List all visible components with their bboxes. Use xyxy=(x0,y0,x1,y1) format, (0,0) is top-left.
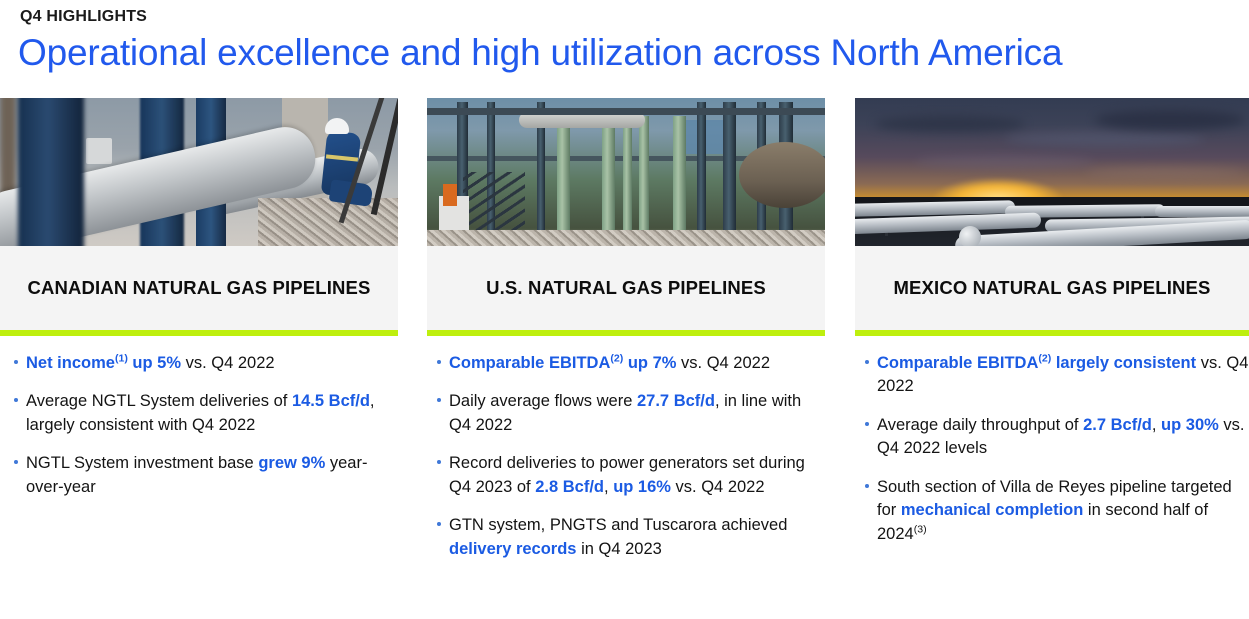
bullet-ngtl-deliveries: Average NGTL System deliveries of 14.5 B… xyxy=(0,390,398,437)
bullet-text-run: 27.7 Bcf/d xyxy=(637,392,715,410)
bullet-list-mexico: Comparable EBITDA(2) largely consistent … xyxy=(855,336,1249,546)
card-title-text: CANADIAN NATURAL GAS PIPELINES xyxy=(3,274,394,302)
card-title-mexico: MEXICO NATURAL GAS PIPELINES xyxy=(855,246,1249,330)
bullet-text-run: grew 9% xyxy=(258,454,325,472)
bullet-record-power-generator-deliveries: Record deliveries to power generators se… xyxy=(427,452,825,499)
bullet-text-run: 14.5 Bcf/d xyxy=(292,392,370,410)
card-mexico-natural-gas-pipelines: MEXICO NATURAL GAS PIPELINES Comparable … xyxy=(855,98,1249,561)
bullet-text-run: NGTL System investment base xyxy=(26,454,258,472)
bullet-average-daily-throughput: Average daily throughput of 2.7 Bcf/d, u… xyxy=(855,414,1249,461)
bullet-text-run: up 30% xyxy=(1161,416,1219,434)
us-gas-processing-plant-photo xyxy=(427,98,825,246)
bullet-text-run: , xyxy=(1152,416,1161,434)
footnote-marker: (3) xyxy=(914,523,927,535)
bullet-text-run: Average daily throughput of xyxy=(877,416,1083,434)
bullet-text-run: , xyxy=(604,478,613,496)
card-us-natural-gas-pipelines: U.S. NATURAL GAS PIPELINES Comparable EB… xyxy=(427,98,825,576)
footnote-marker: (2) xyxy=(1038,353,1051,365)
bullet-text-run: vs. Q4 2022 xyxy=(671,478,765,496)
footnote-marker: (2) xyxy=(610,353,623,365)
bullet-text-run: delivery records xyxy=(449,540,577,558)
bullet-text-run: up 5% xyxy=(128,354,181,372)
card-title-text: MEXICO NATURAL GAS PIPELINES xyxy=(869,274,1234,302)
bullet-comparable-ebitda-consistent: Comparable EBITDA(2) largely consistent … xyxy=(855,352,1249,399)
bullet-text-run: GTN system, PNGTS and Tuscarora achieved xyxy=(449,516,787,534)
bullet-text-run: vs. Q4 2022 xyxy=(676,354,770,372)
mexico-pipeline-sunset-photo xyxy=(855,98,1249,246)
canadian-pipeline-facility-photo xyxy=(0,98,398,246)
card-title-us: U.S. NATURAL GAS PIPELINES xyxy=(427,246,825,330)
bullet-text-run: Daily average flows were xyxy=(449,392,637,410)
bullet-text-run: vs. Q4 2022 xyxy=(181,354,275,372)
bullet-comparable-ebitda-up-7: Comparable EBITDA(2) up 7% vs. Q4 2022 xyxy=(427,352,825,375)
bullet-list-us: Comparable EBITDA(2) up 7% vs. Q4 2022Da… xyxy=(427,336,825,561)
slide-root: Q4 HIGHLIGHTS Operational excellence and… xyxy=(0,0,1249,619)
footnote-marker: (1) xyxy=(115,353,128,365)
bullet-text-run: Comparable EBITDA xyxy=(449,354,610,372)
bullet-text-run: up 7% xyxy=(623,354,676,372)
bullet-gtn-pngts-tuscarora-records: GTN system, PNGTS and Tuscarora achieved… xyxy=(427,514,825,561)
bullet-daily-average-flows: Daily average flows were 27.7 Bcf/d, in … xyxy=(427,390,825,437)
eyebrow-label: Q4 HIGHLIGHTS xyxy=(20,8,147,26)
bullet-text-run: 2.8 Bcf/d xyxy=(535,478,604,496)
bullet-text-run: Average NGTL System deliveries of xyxy=(26,392,292,410)
bullet-text-run: largely consistent xyxy=(1051,354,1196,372)
bullet-text-run: mechanical completion xyxy=(901,501,1083,519)
bullet-net-income-up-5: Net income(1) up 5% vs. Q4 2022 xyxy=(0,352,398,375)
bullet-list-canadian: Net income(1) up 5% vs. Q4 2022Average N… xyxy=(0,336,398,499)
card-title-text: U.S. NATURAL GAS PIPELINES xyxy=(462,274,790,302)
bullet-ngtl-investment-base: NGTL System investment base grew 9% year… xyxy=(0,452,398,499)
bullet-text-run: Net income xyxy=(26,354,115,372)
bullet-text-run: 2.7 Bcf/d xyxy=(1083,416,1152,434)
bullet-text-run: Comparable EBITDA xyxy=(877,354,1038,372)
page-title: Operational excellence and high utilizat… xyxy=(18,32,1062,74)
bullet-text-run: up 16% xyxy=(613,478,671,496)
card-canadian-natural-gas-pipelines: CANADIAN NATURAL GAS PIPELINES Net incom… xyxy=(0,98,398,514)
card-title-canadian: CANADIAN NATURAL GAS PIPELINES xyxy=(0,246,398,330)
bullet-villa-de-reyes-pipeline: South section of Villa de Reyes pipeline… xyxy=(855,476,1249,546)
bullet-text-run: in Q4 2023 xyxy=(577,540,662,558)
